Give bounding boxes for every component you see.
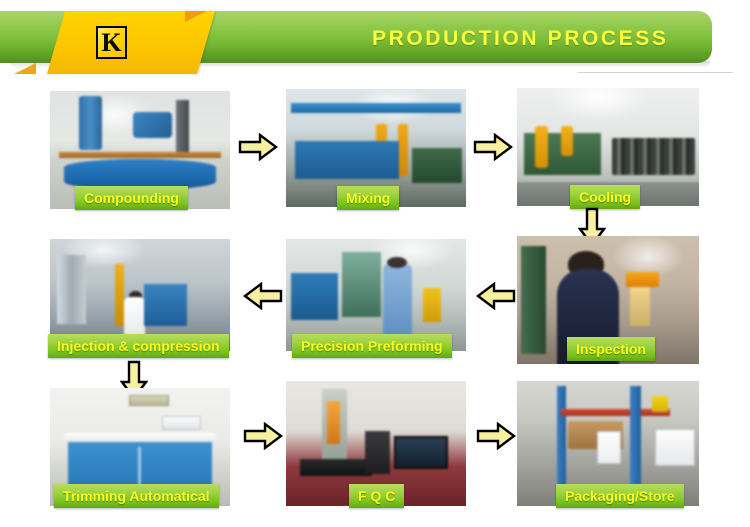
- production-process-flow: Compounding Mixing Cooling: [0, 78, 750, 527]
- process-step-preforming: Precision Preforming: [286, 239, 466, 357]
- process-step-inspection: Inspection: [517, 236, 697, 354]
- ribbon-fold-top: [185, 11, 207, 22]
- step-label-trimming: Trimming Automatical: [54, 484, 219, 508]
- page-header: K PRODUCTION PROCESS: [0, 11, 712, 63]
- arrow-mixing-to-cooling: [473, 133, 513, 161]
- step-label-fqc: F Q C: [349, 484, 404, 508]
- process-step-injection: Injection & compression: [50, 239, 230, 357]
- process-step-compounding: Compounding: [50, 91, 230, 209]
- process-step-mixing: Mixing: [286, 89, 466, 207]
- ribbon-fold-bottom: [14, 63, 36, 74]
- arrow-fqc-to-packaging: [476, 422, 516, 450]
- page-title: PRODUCTION PROCESS: [372, 24, 692, 54]
- step-label-cooling: Cooling: [570, 185, 640, 209]
- step-label-injection: Injection & compression: [48, 334, 229, 358]
- step-label-compounding: Compounding: [75, 186, 188, 210]
- process-step-fqc: F Q C: [286, 381, 466, 499]
- step-label-packaging: Packaging/Store: [556, 484, 684, 508]
- arrow-preforming-to-injection: [243, 282, 283, 310]
- process-step-trimming: Trimming Automatical: [50, 388, 230, 506]
- arrow-compounding-to-mixing: [238, 133, 278, 161]
- logo-letter: K: [98, 28, 125, 57]
- step-label-inspection: Inspection: [567, 337, 655, 361]
- step-label-mixing: Mixing: [337, 186, 399, 210]
- decorative-rule: [578, 72, 733, 73]
- company-logo: K: [96, 26, 127, 59]
- arrow-trimming-to-fqc: [243, 422, 283, 450]
- step-label-preforming: Precision Preforming: [292, 334, 452, 358]
- process-step-packaging: Packaging/Store: [517, 381, 697, 499]
- arrow-inspection-to-preforming: [476, 282, 516, 310]
- process-step-cooling: Cooling: [517, 88, 697, 206]
